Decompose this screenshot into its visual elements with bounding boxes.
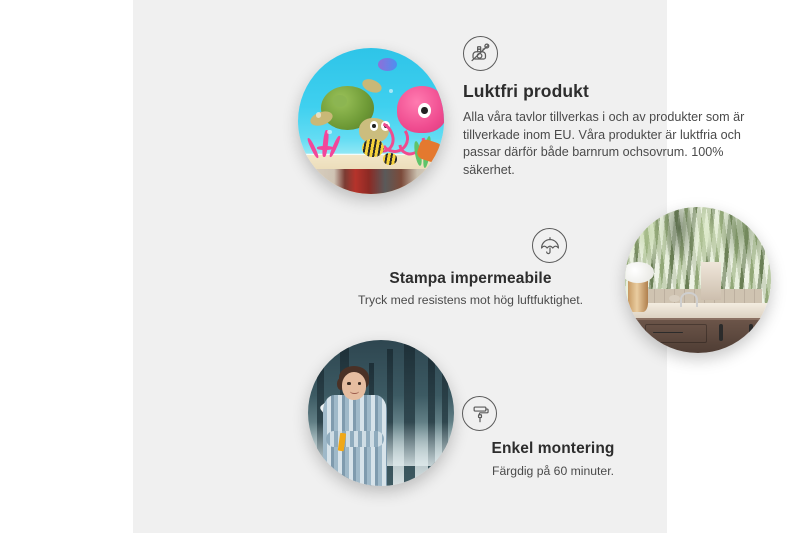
room-photo-strip	[310, 169, 444, 194]
forest-mural-photo	[308, 340, 454, 486]
woman-face	[342, 372, 367, 400]
product-image-woman-painter-forest-mural[interactable]	[308, 340, 454, 486]
mirror-panel	[701, 262, 721, 300]
feature-description: Alla våra tavlor tillverkas i och av pro…	[463, 109, 759, 179]
woman-smile	[350, 388, 359, 393]
yellow-fish	[383, 153, 398, 165]
product-info-panel: Luktfri produkt Alla våra tavlor tillver…	[133, 0, 667, 533]
octopus-eye	[418, 103, 431, 118]
tree	[428, 355, 435, 486]
bathroom-photo	[625, 207, 771, 353]
feature-description: Färgdig på 60 minuter.	[453, 463, 653, 479]
paint-roller-icon	[462, 396, 497, 431]
cabinet-handle	[719, 324, 723, 341]
feature-title: Enkel montering	[453, 440, 653, 458]
product-image-underwater-kids-scene[interactable]	[298, 48, 444, 194]
umbrella-icon	[532, 228, 567, 263]
no-fragrance-icon	[463, 36, 498, 71]
woman-eye	[347, 382, 351, 385]
feature-waterproof-print: Stampa impermeabile Tryck med resistens …	[338, 228, 603, 308]
feature-easy-mounting: Enkel montering Färgdig på 60 minuter.	[453, 396, 653, 479]
faucet	[680, 292, 697, 307]
wood-vanity	[634, 318, 771, 353]
cabinet-handle	[749, 324, 753, 341]
feature-description: Tryck med resistens mot hög luftfuktighe…	[338, 292, 603, 308]
woman-eye	[358, 382, 362, 385]
product-image-bathroom-botanical-wallpaper[interactable]	[625, 207, 771, 353]
bubble	[327, 130, 331, 134]
pink-coral	[307, 130, 345, 168]
vanity-drawer	[645, 324, 707, 343]
woman-crossed-arms	[326, 431, 384, 447]
screenshot-root: Luktfri produkt Alla våra tavlor tillver…	[0, 0, 800, 533]
feature-title: Luktfri produkt	[463, 81, 759, 102]
feature-odour-free: Luktfri produkt Alla våra tavlor tillver…	[463, 36, 759, 179]
underwater-illustration	[298, 48, 444, 194]
feature-title: Stampa impermeabile	[338, 270, 603, 288]
